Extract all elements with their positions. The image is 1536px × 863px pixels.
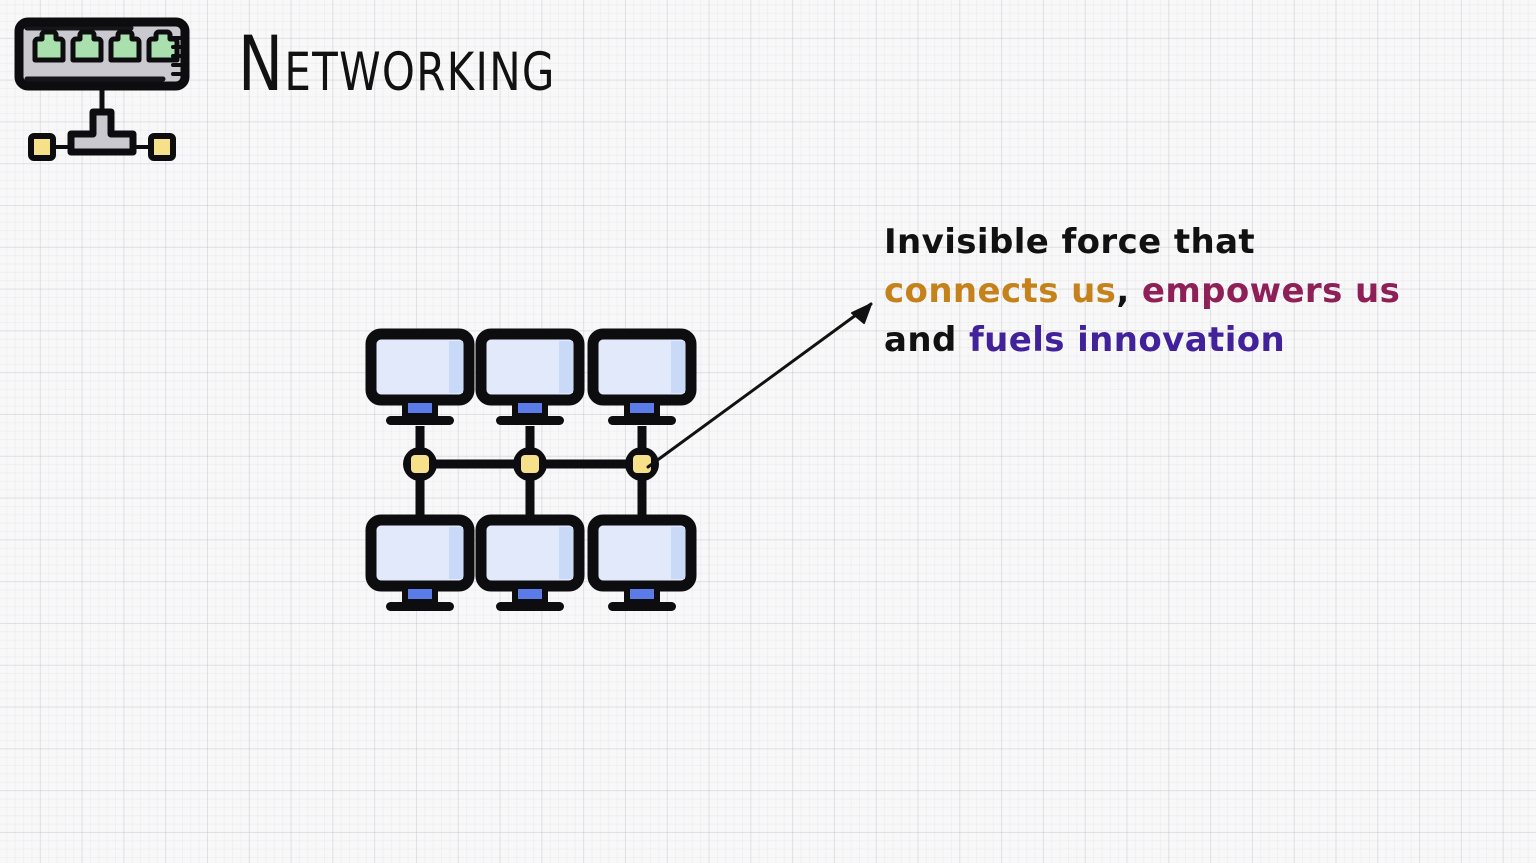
- computer-monitor: [481, 520, 579, 611]
- callout-annotation: Invisible force that connects us, empowe…: [884, 218, 1484, 365]
- computer-monitor: [481, 334, 579, 425]
- network-node: [403, 447, 437, 481]
- arrow-pointing-to-network: [630, 280, 900, 480]
- connector-square-left: [31, 136, 53, 158]
- callout-span-empowers: empowers us: [1142, 271, 1400, 311]
- callout-span-fuels: fuels innovation: [969, 320, 1285, 360]
- callout-span-and: and: [884, 320, 969, 360]
- callout-span-comma: ,: [1116, 271, 1142, 311]
- slide-canvas: Networking: [0, 0, 1536, 863]
- callout-line-3: and fuels innovation: [884, 316, 1484, 365]
- page-title: Networking: [238, 22, 556, 106]
- network-node: [513, 447, 547, 481]
- callout-span: Invisible force that: [884, 222, 1255, 262]
- computer-monitor: [371, 520, 469, 611]
- connector-square-right: [151, 136, 173, 158]
- computer-monitor: [371, 334, 469, 425]
- computer-monitor: [593, 520, 691, 611]
- switch-downlink: [31, 86, 173, 158]
- callout-line-2: connects us, empowers us: [884, 267, 1484, 316]
- callout-span-connects: connects us: [884, 271, 1116, 311]
- callout-line-1: Invisible force that: [884, 218, 1484, 267]
- network-switch-icon: [13, 16, 191, 164]
